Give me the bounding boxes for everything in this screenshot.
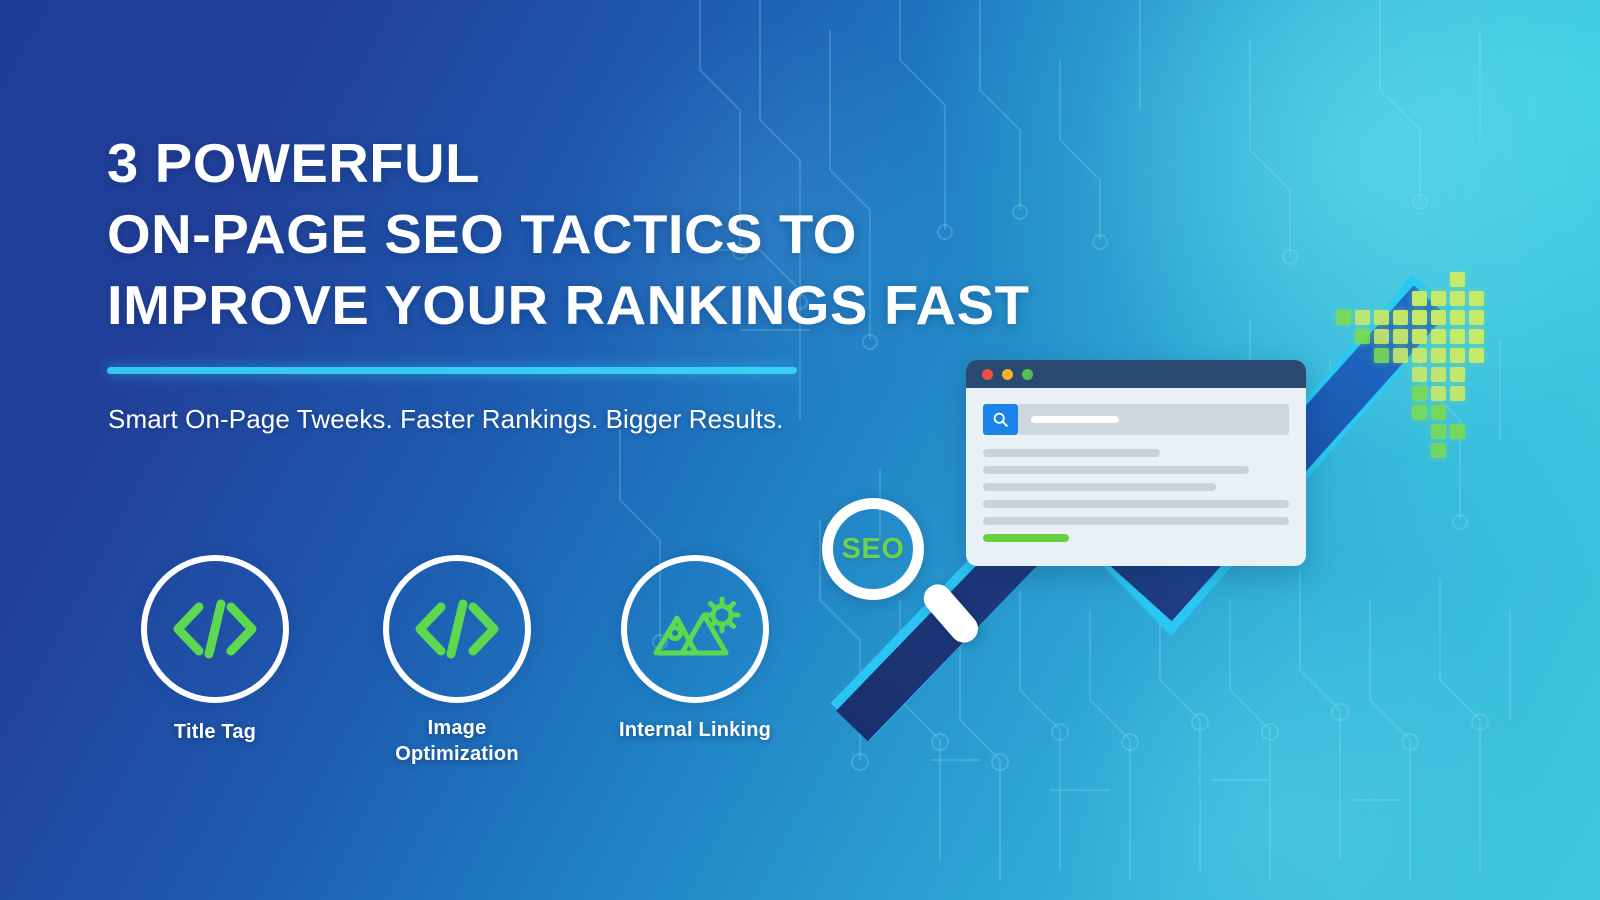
banner-canvas: SEO 3 POWERFUL ON-PAGE SEO TACTICS TO IM… <box>0 0 1600 900</box>
browser-titlebar <box>966 360 1306 388</box>
search-input[interactable] <box>1018 404 1289 435</box>
arrowhead-pixel <box>1431 329 1446 344</box>
feature-label: Title Tag <box>125 719 305 745</box>
arrowhead-pixel <box>1431 405 1446 420</box>
arrowhead-pixel <box>1374 348 1389 363</box>
arrowhead-pixel <box>1393 329 1408 344</box>
search-button[interactable] <box>983 404 1018 435</box>
image-gear-icon <box>646 593 744 665</box>
arrowhead-pixel <box>1412 329 1427 344</box>
feature-label: Image Optimization <box>367 715 547 767</box>
arrowhead-pixel <box>1450 348 1465 363</box>
arrowhead-pixel <box>1393 348 1408 363</box>
feature-image-optimization[interactable]: Image Optimization <box>367 555 547 767</box>
arrowhead-pixel <box>1450 291 1465 306</box>
arrowhead-pixel <box>1450 310 1465 325</box>
page-title: 3 POWERFUL ON-PAGE SEO TACTICS TO IMPROV… <box>107 128 1117 341</box>
content-line <box>983 449 1160 457</box>
arrowhead-pixel <box>1431 443 1446 458</box>
arrowhead-pixel <box>1469 291 1484 306</box>
arrowhead-pixel <box>1355 329 1370 344</box>
arrowhead-pixel <box>1374 310 1389 325</box>
arrowhead-pixel <box>1431 367 1446 382</box>
feature-icon-ring <box>383 555 531 703</box>
arrowhead-pixel <box>1431 386 1446 401</box>
content-line <box>983 466 1249 474</box>
search-result-lines <box>983 449 1289 542</box>
headline-line-1: 3 POWERFUL <box>107 128 1137 199</box>
code-brackets-icon <box>169 598 261 660</box>
subtitle: Smart On-Page Tweeks. Faster Rankings. B… <box>108 404 783 435</box>
feature-icon-ring <box>141 555 289 703</box>
arrowhead-pixel <box>1431 348 1446 363</box>
arrowhead-pixel <box>1393 310 1408 325</box>
arrowhead-pixel <box>1412 386 1427 401</box>
arrowhead-pixel <box>1355 310 1370 325</box>
window-dot-red <box>982 369 993 380</box>
glow-bottom-right <box>1040 570 1540 900</box>
headline-line-2: ON-PAGE SEO TACTICS TO <box>107 199 1137 270</box>
code-brackets-icon <box>411 598 503 660</box>
feature-title-tag[interactable]: Title Tag <box>125 555 305 745</box>
arrowhead-pixel <box>1469 329 1484 344</box>
window-dot-amber <box>1002 369 1013 380</box>
feature-icon-ring <box>621 555 769 703</box>
arrowhead-pixel <box>1412 367 1427 382</box>
content-line <box>983 500 1289 508</box>
content-line <box>983 483 1216 491</box>
search-value-pill <box>1031 416 1119 423</box>
arrowhead-pixel <box>1450 424 1465 439</box>
magnifier-ring: SEO <box>822 498 924 600</box>
headline-line-3: IMPROVE YOUR RANKINGS FAST <box>107 270 1137 341</box>
arrowhead-pixel <box>1450 386 1465 401</box>
feature-list: Title Tag Image Optimization <box>110 555 830 785</box>
arrowhead-pixel <box>1374 329 1389 344</box>
arrowhead-pixel <box>1412 405 1427 420</box>
accent-rule <box>107 367 797 374</box>
magnifier-handle <box>918 579 984 649</box>
arrowhead-pixel <box>1469 310 1484 325</box>
feature-label: Internal Linking <box>595 717 795 743</box>
arrowhead-pixel <box>1412 348 1427 363</box>
window-dot-green <box>1022 369 1033 380</box>
arrowhead-pixel <box>1431 310 1446 325</box>
magnifier-icon <box>992 411 1009 428</box>
feature-internal-linking[interactable]: Internal Linking <box>595 555 795 743</box>
arrowhead-pixel <box>1412 291 1427 306</box>
arrowhead-pixel <box>1450 329 1465 344</box>
arrowhead-pixel <box>1469 348 1484 363</box>
seo-label: SEO <box>841 533 904 566</box>
arrowhead-pixel <box>1431 424 1446 439</box>
arrowhead-pixel <box>1431 291 1446 306</box>
arrowhead-pixel <box>1450 272 1465 287</box>
arrowhead-pixel <box>1450 367 1465 382</box>
arrowhead-pixel <box>1336 310 1351 325</box>
arrowhead-pixel <box>1412 310 1427 325</box>
seo-magnifier: SEO <box>822 498 1022 658</box>
search-row <box>983 404 1289 435</box>
content-line <box>983 517 1289 525</box>
